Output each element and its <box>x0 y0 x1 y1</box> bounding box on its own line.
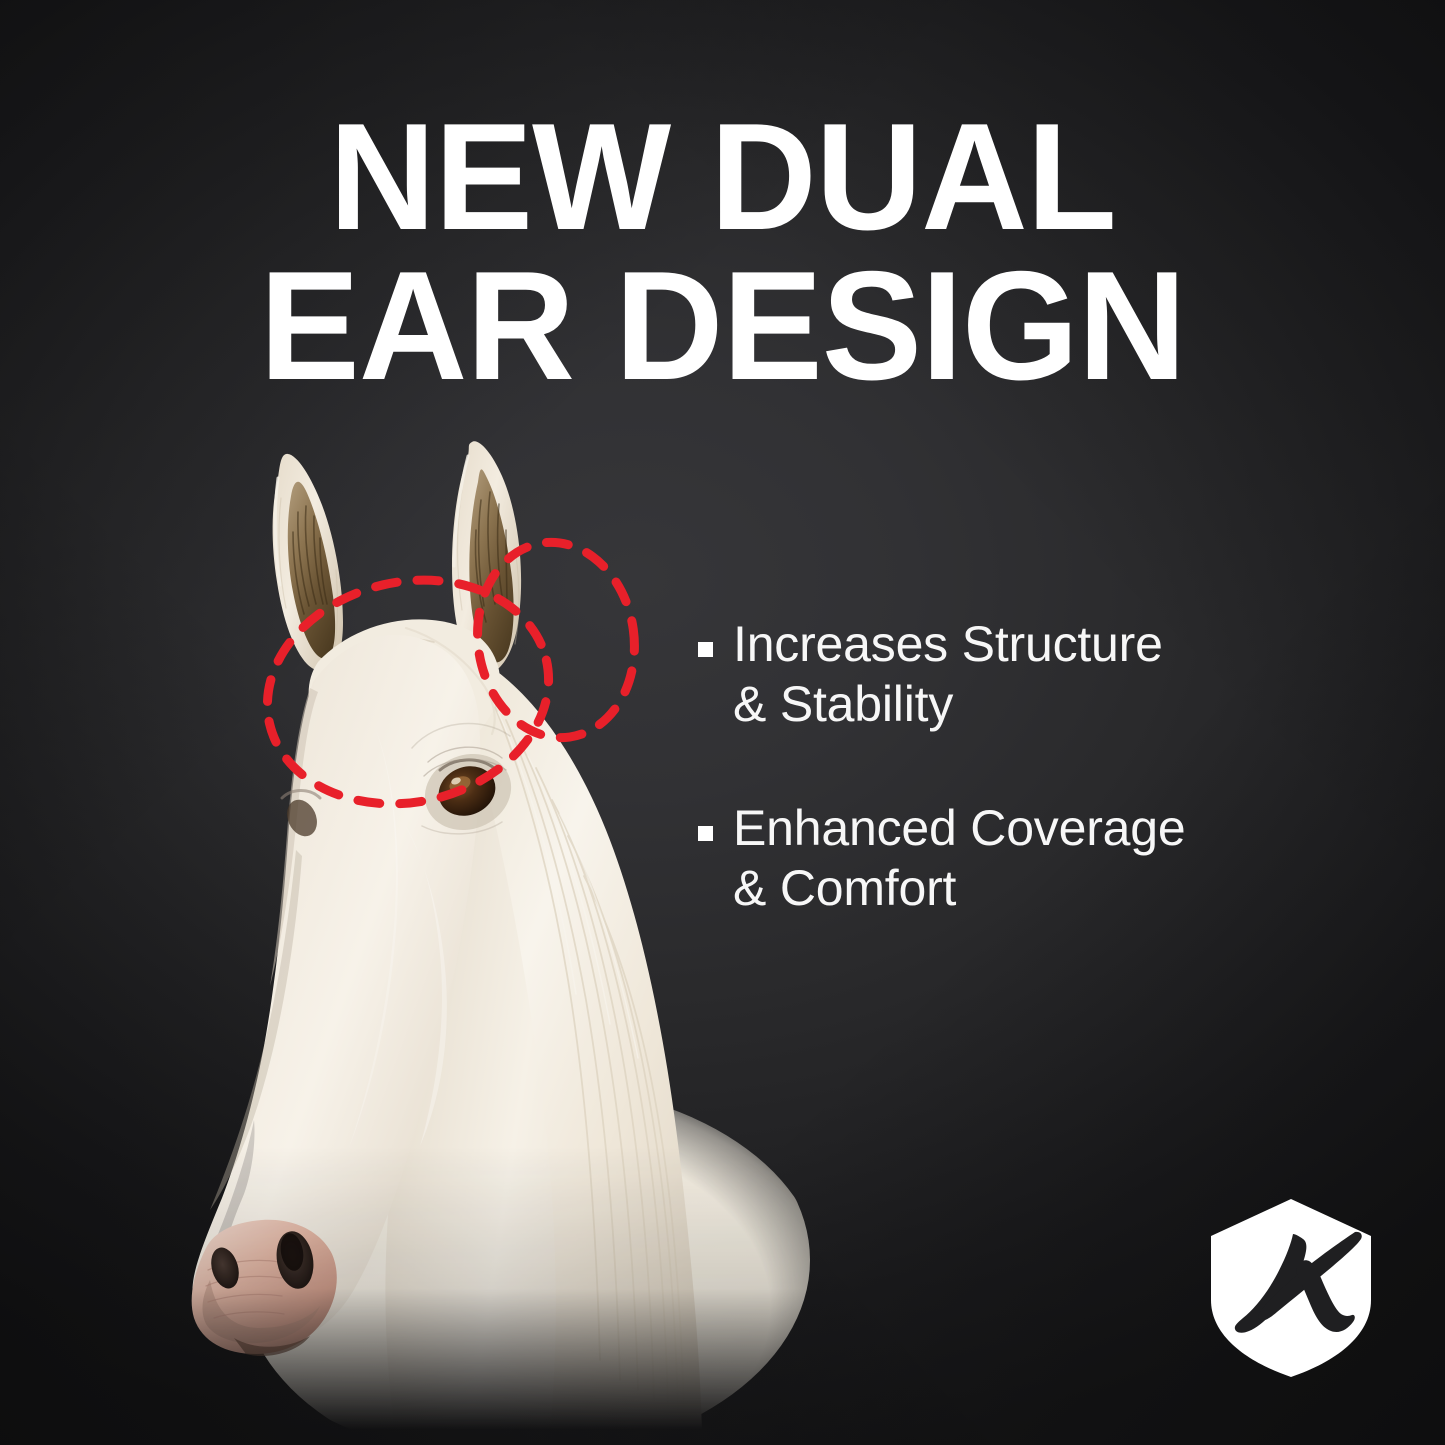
list-item: Increases Structure & Stability <box>698 614 1358 734</box>
feature-text: Increases Structure & Stability <box>733 614 1163 734</box>
promo-graphic: NEW DUAL EAR DESIGN <box>0 0 1445 1445</box>
feature-line-1: Increases Structure <box>733 616 1163 672</box>
headline-line-1: NEW DUAL <box>22 104 1424 251</box>
feature-line-2: & Stability <box>733 676 953 732</box>
feature-text: Enhanced Coverage & Comfort <box>733 798 1185 918</box>
bullet-square-icon <box>698 642 713 657</box>
hexagon-shield-icon <box>1205 1196 1377 1380</box>
headline-line-2: EAR DESIGN <box>22 251 1424 401</box>
feature-list: Increases Structure & Stability Enhanced… <box>698 614 1358 982</box>
feature-line-1: Enhanced Coverage <box>733 800 1185 856</box>
headline: NEW DUAL EAR DESIGN <box>22 104 1424 402</box>
list-item: Enhanced Coverage & Comfort <box>698 798 1358 918</box>
horse-ear-left <box>273 454 343 671</box>
bullet-square-icon <box>698 826 713 841</box>
brand-logo <box>1205 1196 1377 1380</box>
feature-line-2: & Comfort <box>733 860 956 916</box>
